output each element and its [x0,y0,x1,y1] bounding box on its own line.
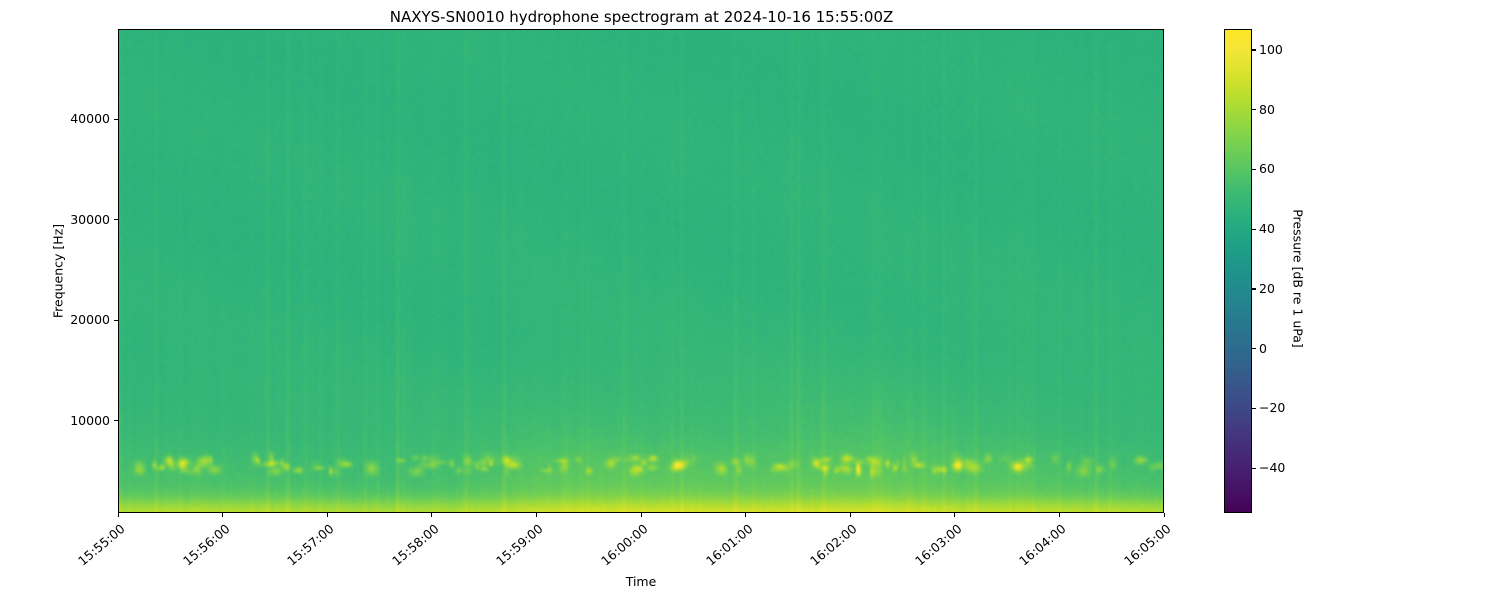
x-axis-tick-mark [222,513,223,517]
colorbar-tick-label: 100 [1259,42,1283,57]
colorbar-tick-mark [1252,169,1256,170]
x-axis-tick-mark [1059,513,1060,517]
x-axis-tick-mark [118,513,119,517]
y-axis-tick-label: 30000 [70,212,110,227]
y-axis-tick-mark [114,219,118,220]
x-axis-tick-label: 15:56:00 [132,521,232,608]
colorbar-tick-label: 80 [1259,102,1275,117]
colorbar-gradient [1225,30,1252,513]
x-axis-tick-mark [641,513,642,517]
colorbar-tick-mark [1252,109,1256,110]
colorbar-tick-mark [1252,288,1256,289]
colorbar-tick-label: 20 [1259,281,1275,296]
chart-title: NAXYS-SN0010 hydrophone spectrogram at 2… [0,8,1283,26]
x-axis-tick-label: 16:00:00 [551,521,651,608]
colorbar-tick-label: 60 [1259,161,1275,176]
colorbar-tick-mark [1252,468,1256,469]
y-axis-tick-label: 20000 [70,312,110,327]
colorbar-tick-mark [1252,49,1256,50]
colorbar-tick-mark [1252,348,1256,349]
colorbar-tick-mark [1252,408,1256,409]
x-axis-tick-label: 15:55:00 [28,521,128,608]
x-axis-tick-label: 15:59:00 [446,521,546,608]
colorbar-tick-label: 40 [1259,221,1275,236]
x-axis-tick-label: 15:58:00 [341,521,441,608]
x-axis-label: Time [118,574,1164,589]
x-axis-tick-mark [1164,513,1165,517]
x-axis-tick-mark [745,513,746,517]
colorbar-tick-mark [1252,229,1256,230]
spectrogram-plot-area [118,29,1164,513]
y-axis-tick-mark [114,119,118,120]
x-axis-tick-label: 16:03:00 [864,521,964,608]
x-axis-tick-mark [431,513,432,517]
y-axis-tick-mark [114,320,118,321]
x-axis-tick-mark [327,513,328,517]
y-axis-tick-label: 40000 [70,111,110,126]
x-axis-tick-label: 16:05:00 [1074,521,1174,608]
y-axis-tick-label: 10000 [70,413,110,428]
spectrogram-image [119,30,1164,513]
colorbar-tick-label: −40 [1259,460,1285,475]
y-axis-tick-mark [114,420,118,421]
x-axis-tick-label: 15:57:00 [237,521,337,608]
x-axis-tick-label: 16:02:00 [760,521,860,608]
spectrogram-figure: NAXYS-SN0010 hydrophone spectrogram at 2… [0,0,1500,600]
x-axis-tick-label: 16:01:00 [655,521,755,608]
colorbar-tick-label: 0 [1259,341,1267,356]
colorbar-label: Pressure [dB re 1 uPa] [1291,209,1306,348]
colorbar [1224,29,1252,513]
x-axis-tick-mark [850,513,851,517]
colorbar-tick-label: −20 [1259,400,1285,415]
x-axis-tick-mark [536,513,537,517]
y-axis-label: Frequency [Hz] [51,224,66,318]
x-axis-tick-label: 16:04:00 [969,521,1069,608]
x-axis-tick-mark [954,513,955,517]
